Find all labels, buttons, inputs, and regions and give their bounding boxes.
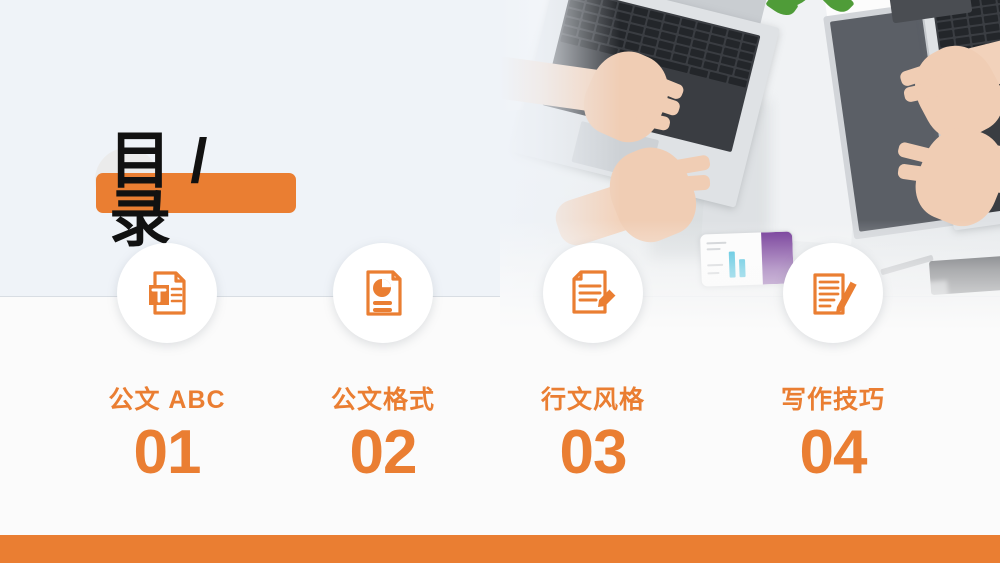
title-line-two: 录 xyxy=(109,192,171,248)
title-line-one: 目 / xyxy=(109,134,208,190)
toc-item-1[interactable]: 公文 ABC 01 xyxy=(77,243,257,485)
toc-item-4-label: 写作技巧 xyxy=(743,385,923,415)
toc-item-2-label: 公文格式 xyxy=(293,385,473,415)
toc-item-1-number: 01 xyxy=(77,421,257,485)
document-chart-icon xyxy=(357,267,409,319)
toc-item-3-label: 行文风格 xyxy=(503,385,683,415)
document-text-icon xyxy=(141,267,193,319)
toc-item-1-circle[interactable] xyxy=(117,243,217,343)
notepad-pencil-icon xyxy=(807,267,859,319)
toc-item-4-circle[interactable] xyxy=(783,243,883,343)
toc-item-4[interactable]: 写作技巧 04 xyxy=(743,243,923,485)
toc-item-4-number: 04 xyxy=(743,421,923,485)
toc-item-3-circle[interactable] xyxy=(543,243,643,343)
left-person-finger-e xyxy=(670,175,711,193)
document-pencil-icon xyxy=(567,267,619,319)
toc-item-3-number: 03 xyxy=(503,421,683,485)
footer-accent-bar xyxy=(0,535,1000,563)
toc-item-2-number: 02 xyxy=(293,421,473,485)
toc-item-1-label: 公文 ABC xyxy=(77,385,257,415)
slide-root: 目 / 录 公文 ABC 01 xyxy=(0,0,1000,563)
toc-item-3[interactable]: 行文风格 03 xyxy=(503,243,683,485)
toc-item-2-circle[interactable] xyxy=(333,243,433,343)
toc-item-2[interactable]: 公文格式 02 xyxy=(293,243,473,485)
